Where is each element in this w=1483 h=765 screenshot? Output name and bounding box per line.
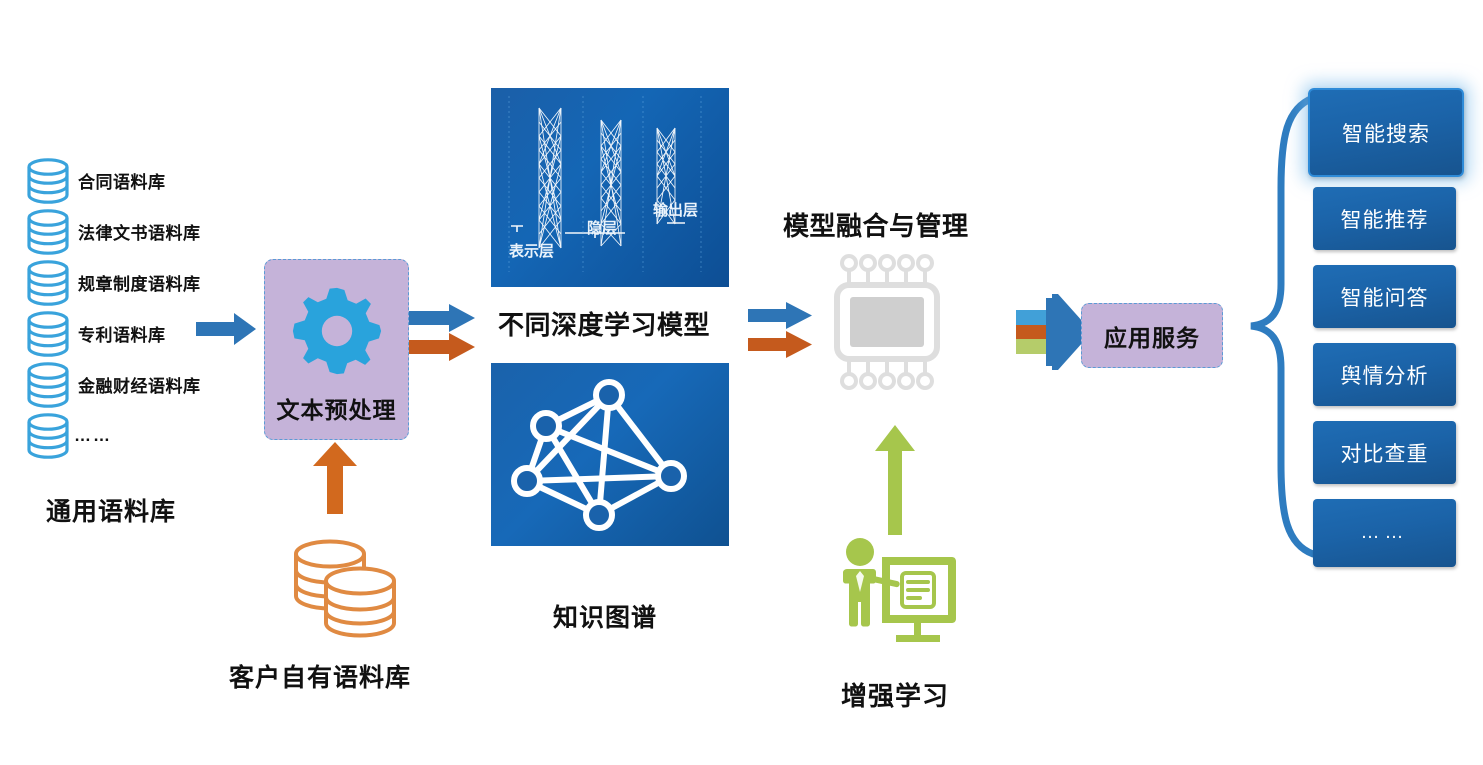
app-button-label: 智能推荐: [1341, 204, 1429, 234]
app-button-intelligent-search[interactable]: 智能搜索: [1308, 88, 1464, 177]
client-corpus-title: 客户自有语料库: [229, 658, 411, 694]
list-item-label: 合同语料库: [78, 168, 166, 193]
arrow-preprocess-out-orange: [409, 332, 475, 367]
app-button-label: 对比查重: [1341, 438, 1429, 468]
app-button-intelligent-recommendation[interactable]: 智能推荐: [1313, 187, 1456, 250]
general-corpus-title: 通用语料库: [46, 492, 176, 528]
app-button-intelligent-qa[interactable]: 智能问答: [1313, 265, 1456, 328]
list-item-label: 规章制度语料库: [78, 270, 201, 295]
application-service-label: 应用服务: [1104, 319, 1200, 353]
list-item-label: ……: [74, 426, 112, 446]
nn-layer-label-hidden: 隐层: [587, 217, 617, 238]
app-button-label: 智能问答: [1341, 282, 1429, 312]
app-button-comparison-dedup[interactable]: 对比查重: [1313, 421, 1456, 484]
gear-icon: [288, 282, 386, 385]
app-button-sentiment-analysis[interactable]: 舆情分析: [1313, 343, 1456, 406]
cpu-chip-icon: [828, 252, 946, 397]
list-item[interactable]: 法律文书语料库: [22, 206, 272, 257]
app-button-more[interactable]: ……: [1313, 499, 1456, 567]
list-item[interactable]: ……: [22, 410, 272, 461]
nn-layer-label-output: 输出层: [653, 199, 698, 220]
app-button-label: 智能搜索: [1342, 118, 1430, 148]
list-item[interactable]: 规章制度语料库: [22, 257, 272, 308]
database-icon: [22, 309, 74, 359]
knowledge-graph-title: 知识图谱: [553, 598, 657, 634]
arrow-models-to-chip-orange: [748, 330, 812, 364]
text-preprocess-box[interactable]: 文本预处理: [264, 259, 409, 440]
list-item[interactable]: 金融财经语料库: [22, 359, 272, 410]
app-button-label: ……: [1361, 522, 1409, 544]
app-button-label: 舆情分析: [1341, 360, 1429, 390]
application-list: 智能搜索 智能推荐 智能问答 舆情分析 对比查重 ……: [1313, 88, 1465, 582]
nn-layer-label-representation: 表示层: [509, 240, 554, 261]
list-item-label: 金融财经语料库: [78, 372, 201, 397]
database-icon: [22, 411, 74, 461]
database-icon: [22, 207, 74, 257]
arrow-corpus-to-preprocess: [196, 310, 258, 353]
list-item-label: 专利语料库: [78, 321, 166, 346]
neural-network-icon: 表示层 隐层 输出层: [491, 88, 729, 287]
presenter-board-icon: [838, 535, 960, 670]
database-icon: [22, 258, 74, 308]
database-icon: [22, 360, 74, 410]
reinforcement-learning-title: 增强学习: [841, 676, 949, 713]
green-up-arrow: [873, 425, 917, 540]
model-fusion-title: 模型融合与管理: [783, 206, 969, 243]
list-item-label: 法律文书语料库: [78, 219, 201, 244]
knowledge-graph-icon: [491, 363, 729, 546]
list-item[interactable]: 合同语料库: [22, 155, 272, 206]
text-preprocess-label: 文本预处理: [265, 391, 408, 425]
database-icon: [22, 156, 74, 206]
application-service-box[interactable]: 应用服务: [1081, 303, 1223, 368]
green-orange-up-arrow-client-corpus: [310, 442, 360, 519]
deep-learning-models-label: 不同深度学习模型: [498, 305, 710, 342]
stacked-database-icon: [288, 532, 404, 647]
general-corpus-list: 合同语料库 法律文书语料库: [22, 155, 272, 461]
